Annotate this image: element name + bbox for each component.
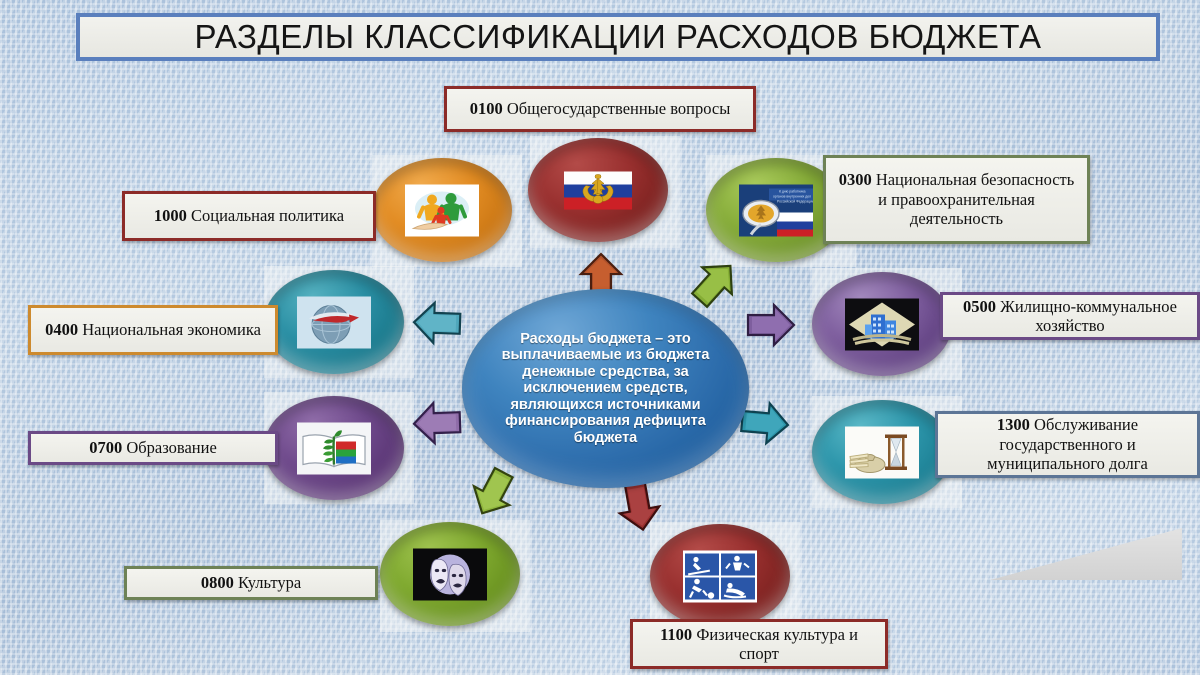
svg-text:органов внутренних дел: органов внутренних дел — [773, 194, 811, 198]
hourglass-money-bag-icon — [845, 425, 919, 480]
page-title-text: РАЗДЕЛЫ КЛАССИФИКАЦИИ РАСХОДОВ БЮДЖЕТА — [195, 18, 1042, 56]
section-badge-1100[interactable] — [650, 524, 790, 628]
slide-canvas: РАЗДЕЛЫ КЛАССИФИКАЦИИ РАСХОДОВ БЮДЖЕТА — [0, 0, 1200, 675]
arrow-to-0700 — [411, 399, 463, 447]
arrow-to-0500 — [746, 302, 796, 348]
section-badge-1000[interactable] — [372, 158, 512, 262]
label-0100[interactable]: 0100 Общегосударственные вопросы — [444, 86, 756, 132]
arrow-to-0400 — [411, 299, 463, 347]
section-badge-0700[interactable] — [264, 396, 404, 500]
svg-text:К дню работника: К дню работника — [779, 189, 806, 193]
label-0400-text: 0400 Национальная экономика — [45, 320, 261, 340]
russian-coat-of-arms-flag-icon — [561, 163, 635, 218]
section-badge-1300[interactable] — [812, 400, 952, 504]
housing-buildings-icon — [845, 297, 919, 352]
center-definition-text: Расходы бюджета – это выплачиваемые из б… — [498, 331, 713, 446]
label-1300-text: 1300 Обслуживание государственного и мун… — [945, 415, 1190, 474]
decorative-wedge — [990, 528, 1182, 580]
label-0800[interactable]: 0800 Культура — [124, 566, 378, 600]
label-0300-text: 0300 Национальная безопасность и правоох… — [833, 170, 1080, 229]
label-1100[interactable]: 1100 Физическая культура и спорт — [630, 619, 888, 669]
police-emblem-poster-icon: К дню работника органов внутренних дел Р… — [739, 183, 813, 238]
theater-masks-icon — [413, 547, 487, 602]
label-0500[interactable]: 0500 Жилищно-коммунальное хозяйство — [940, 292, 1200, 340]
section-badge-0500[interactable] — [812, 272, 952, 376]
label-0400[interactable]: 0400 Национальная экономика — [28, 305, 278, 355]
page-title: РАЗДЕЛЫ КЛАССИФИКАЦИИ РАСХОДОВ БЮДЖЕТА — [76, 13, 1160, 61]
label-0700-text: 0700 Образование — [89, 438, 217, 458]
label-1100-text: 1100 Физическая культура и спорт — [640, 625, 878, 664]
section-badge-0800[interactable] — [380, 522, 520, 626]
sports-pictograms-icon — [683, 549, 757, 604]
section-badge-0400[interactable] — [264, 270, 404, 374]
label-1300[interactable]: 1300 Обслуживание государственного и мун… — [935, 411, 1200, 478]
arrow-to-0800 — [461, 460, 525, 526]
label-0300[interactable]: 0300 Национальная безопасность и правоох… — [823, 155, 1090, 244]
label-0100-text: 0100 Общегосударственные вопросы — [470, 99, 731, 119]
svg-text:Российской Федерации: Российской Федерации — [777, 199, 813, 203]
label-1000-text: 1000 Социальная политика — [154, 206, 344, 226]
label-0700[interactable]: 0700 Образование — [28, 431, 278, 465]
globe-ribbon-icon — [297, 295, 371, 350]
label-0500-text: 0500 Жилищно-коммунальное хозяйство — [950, 297, 1190, 336]
section-badge-0100[interactable] — [528, 138, 668, 242]
label-1000[interactable]: 1000 Социальная политика — [122, 191, 376, 241]
family-figures-icon — [405, 183, 479, 238]
open-book-plant-icon — [297, 421, 371, 476]
center-definition-bubble: Расходы бюджета – это выплачиваемые из б… — [462, 289, 749, 488]
label-0800-text: 0800 Культура — [201, 573, 301, 593]
